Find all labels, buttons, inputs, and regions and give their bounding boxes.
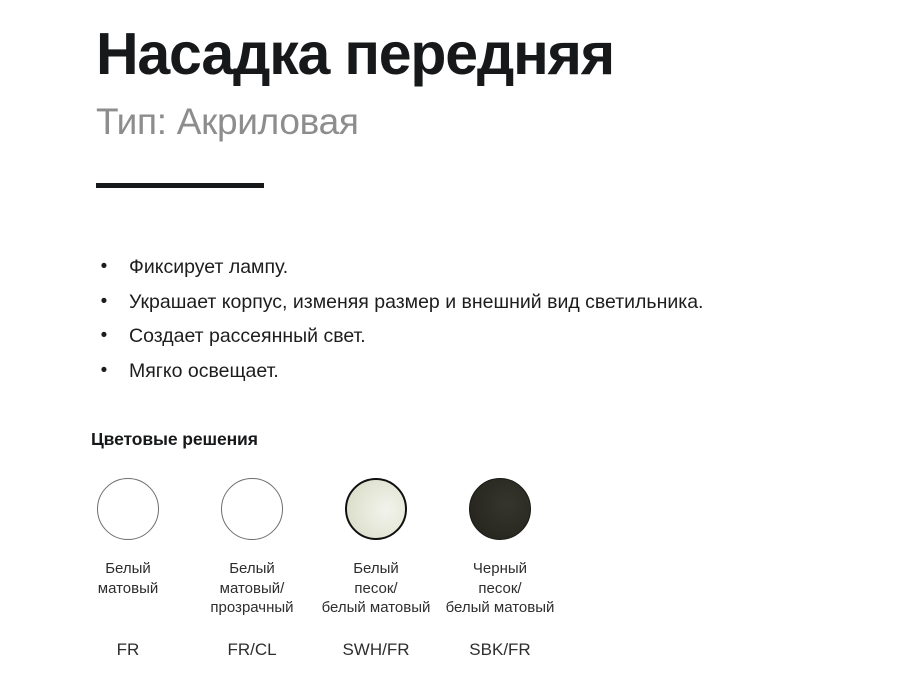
bullet-icon: • xyxy=(98,319,110,354)
list-item-label: Фиксирует лампу. xyxy=(129,256,288,278)
page-title: Насадка передняя xyxy=(96,24,876,86)
color-swatch-label: Белый песок/ белый матовый xyxy=(322,559,431,618)
list-item-label: Мягко освещает. xyxy=(129,360,279,382)
color-swatch-option[interactable]: Белый песок/ белый матовый SWH/FR xyxy=(314,470,438,618)
color-swatch-label: Белый матовый/ прозрачный xyxy=(210,559,293,618)
color-swatch-code: FR/CL xyxy=(227,640,276,660)
list-item-label: Украшает корпус, изменяя размер и внешни… xyxy=(129,291,703,313)
color-swatch-code: FR xyxy=(117,640,140,660)
color-swatch-option[interactable]: Черный песок/ белый матовый SBK/FR xyxy=(438,470,562,618)
bullet-icon: • xyxy=(98,250,110,285)
color-swatch-code: SBK/FR xyxy=(469,640,530,660)
color-swatch-circle[interactable] xyxy=(469,478,531,540)
color-swatch-row: Белый матовый FR Белый матовый/ прозрачн… xyxy=(66,470,562,618)
color-swatch-label: Белый матовый xyxy=(98,559,159,598)
color-swatch-code: SWH/FR xyxy=(342,640,409,660)
list-item-label: Создает рассеянный свет. xyxy=(129,325,366,347)
color-swatch-circle[interactable] xyxy=(345,478,407,540)
color-swatch-option[interactable]: Белый матовый FR xyxy=(66,470,190,598)
bullet-icon: • xyxy=(98,354,110,389)
list-item: • Создает рассеянный свет. xyxy=(96,319,856,354)
feature-list: • Фиксирует лампу. • Украшает корпус, из… xyxy=(96,250,856,388)
title-divider xyxy=(96,183,264,188)
page-subtitle: Тип: Акриловая xyxy=(96,102,876,143)
color-swatch-label: Черный песок/ белый матовый xyxy=(446,559,555,618)
list-item: • Украшает корпус, изменяя размер и внеш… xyxy=(96,285,856,320)
bullet-icon: • xyxy=(98,285,110,320)
list-item: • Фиксирует лампу. xyxy=(96,250,856,285)
color-swatch-circle[interactable] xyxy=(97,478,159,540)
page-header: Насадка передняя Тип: Акриловая xyxy=(96,24,876,143)
list-item: • Мягко освещает. xyxy=(96,354,856,389)
color-swatch-option[interactable]: Белый матовый/ прозрачный FR/CL xyxy=(190,470,314,618)
color-options-heading: Цветовые решения xyxy=(91,429,258,450)
color-swatch-circle[interactable] xyxy=(221,478,283,540)
product-spec-page: Насадка передняя Тип: Акриловая • Фиксир… xyxy=(0,0,900,700)
